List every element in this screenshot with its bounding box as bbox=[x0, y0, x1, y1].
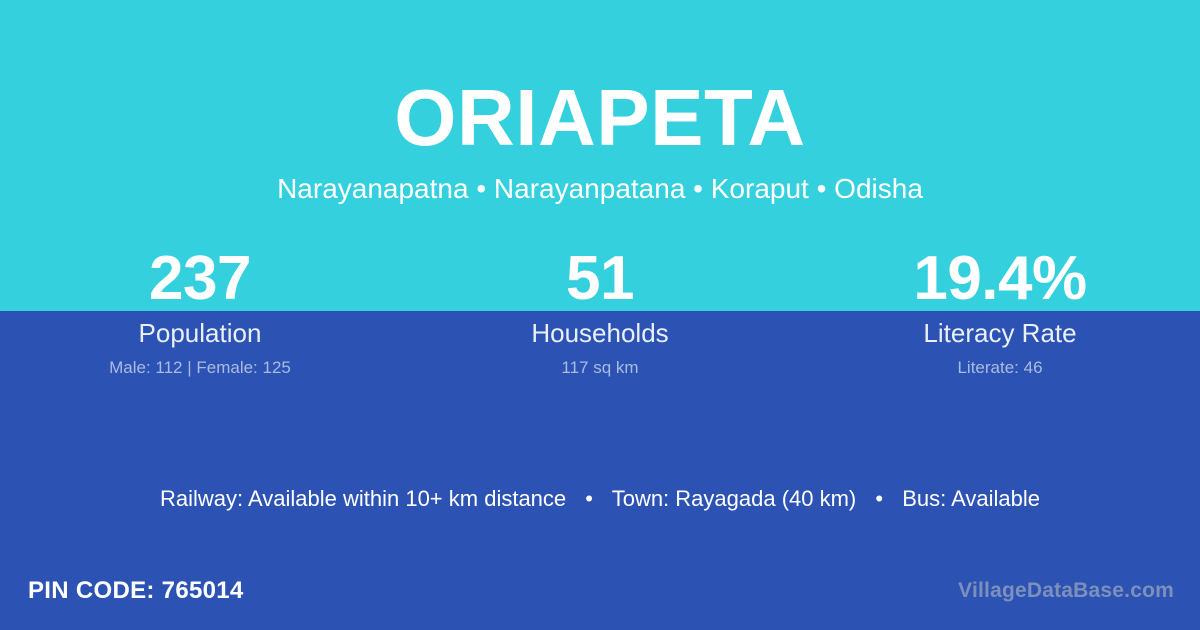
stat-sublabel: Literate: 46 bbox=[800, 359, 1200, 378]
info-town: Town: Rayagada (40 km) bbox=[612, 486, 857, 511]
amenities-line: Railway: Available within 10+ km distanc… bbox=[0, 486, 1200, 512]
stat-households: 51 Households 117 sq km bbox=[400, 248, 800, 377]
stat-label: Literacy Rate bbox=[800, 319, 1200, 348]
stat-value: 51 bbox=[400, 248, 800, 311]
stat-population: 237 Population Male: 112 | Female: 125 bbox=[0, 248, 400, 377]
stat-value: 19.4% bbox=[800, 248, 1200, 311]
info-railway: Railway: Available within 10+ km distanc… bbox=[160, 486, 566, 511]
stat-sublabel: Male: 112 | Female: 125 bbox=[0, 359, 400, 378]
pin-code: PIN CODE: 765014 bbox=[28, 577, 244, 605]
stat-literacy-rate: 19.4% Literacy Rate Literate: 46 bbox=[800, 248, 1200, 377]
site-watermark: VillageDataBase.com bbox=[958, 579, 1174, 603]
stat-value: 237 bbox=[0, 248, 400, 311]
stats-row: 237 Population Male: 112 | Female: 125 5… bbox=[0, 248, 1200, 377]
footer: PIN CODE: 765014 VillageDataBase.com bbox=[0, 574, 1200, 630]
page-title: ORIAPETA bbox=[0, 0, 1200, 158]
info-separator: • bbox=[572, 486, 606, 512]
village-info-card: ORIAPETA Narayanapatna • Narayanpatana •… bbox=[0, 0, 1200, 630]
info-separator: • bbox=[862, 486, 896, 512]
stat-label: Households bbox=[400, 319, 800, 348]
header: ORIAPETA Narayanapatna • Narayanpatana •… bbox=[0, 0, 1200, 205]
stat-label: Population bbox=[0, 319, 400, 348]
stat-sublabel: 117 sq km bbox=[400, 359, 800, 378]
info-bus: Bus: Available bbox=[902, 486, 1040, 511]
breadcrumb: Narayanapatna • Narayanpatana • Koraput … bbox=[0, 158, 1200, 205]
